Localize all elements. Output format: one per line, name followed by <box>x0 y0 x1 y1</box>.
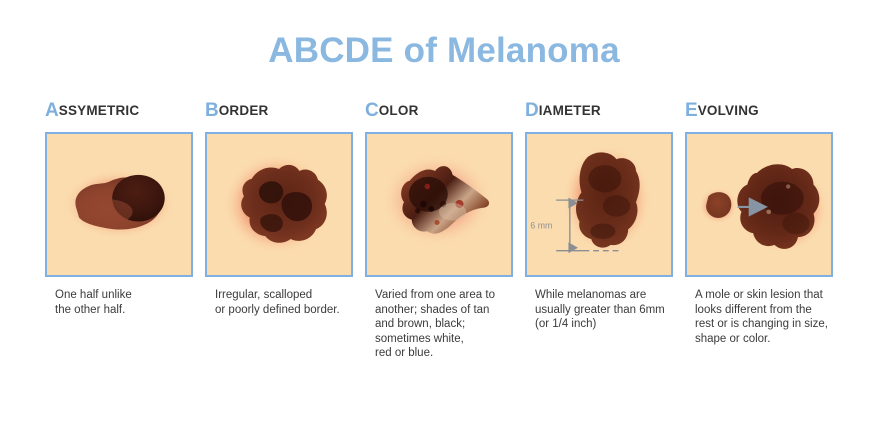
heading-rest-text: OLOR <box>379 103 419 118</box>
column-asymmetric: ASSYMETRIC <box>45 100 197 130</box>
heading-rest-text: ORDER <box>219 103 269 118</box>
caption-evolving: A mole or skin lesion that looks differe… <box>695 288 847 346</box>
panel-diameter: 6 mm <box>525 132 673 277</box>
heading-asymmetric: ASSYMETRIC <box>45 100 197 130</box>
caption-line: Varied from one area to <box>375 288 527 303</box>
heading-border: BORDER <box>205 100 357 130</box>
measurement-label: 6 mm <box>530 220 552 230</box>
caption-line: One half unlike <box>55 288 207 303</box>
evolving-mole-arrow-illustration <box>687 134 831 275</box>
panel-asymmetric <box>45 132 193 277</box>
caption-line: or poorly defined border. <box>215 303 367 318</box>
heading-rest-text: SSYMETRIC <box>59 103 140 118</box>
abcde-melanoma-infographic: ABCDE of Melanoma ASSYMETRIC <box>0 0 888 426</box>
caption-line: (or 1/4 inch) <box>535 317 687 332</box>
caption-asymmetric: One half unlike the other half. <box>55 288 207 317</box>
caption-line: While melanomas are <box>535 288 687 303</box>
panel-evolving <box>685 132 833 277</box>
caption-line: A mole or skin lesion that <box>695 288 847 303</box>
caption-line: another; shades of tan <box>375 303 527 318</box>
column-evolving: EVOLVING <box>685 100 837 130</box>
heading-initial-letter: E <box>685 100 698 121</box>
page-title: ABCDE of Melanoma <box>0 31 888 71</box>
caption-line: shape or color. <box>695 332 847 347</box>
heading-diameter: DIAMETER <box>525 100 677 130</box>
caption-line: Irregular, scalloped <box>215 288 367 303</box>
large-mole-with-scale-illustration: 6 mm <box>527 134 671 275</box>
caption-line: rest or is changing in size, <box>695 317 847 332</box>
heading-color: COLOR <box>365 100 517 130</box>
caption-line: sometimes white, <box>375 332 527 347</box>
column-diameter: DIAMETER <box>525 100 677 130</box>
columns-container: ASSYMETRIC <box>45 100 845 400</box>
caption-line: looks different from the <box>695 303 847 318</box>
panel-color <box>365 132 513 277</box>
caption-line: and brown, black; <box>375 317 527 332</box>
heading-rest-text: VOLVING <box>698 103 759 118</box>
heading-initial-letter: D <box>525 100 539 121</box>
caption-color: Varied from one area to another; shades … <box>375 288 527 361</box>
heading-initial-letter: A <box>45 100 59 121</box>
column-border: BORDER <box>205 100 357 130</box>
heading-evolving: EVOLVING <box>685 100 837 130</box>
caption-line: usually greater than 6mm <box>535 303 687 318</box>
heading-initial-letter: C <box>365 100 379 121</box>
caption-line: the other half. <box>55 303 207 318</box>
column-color: COLOR <box>365 100 517 130</box>
caption-diameter: While melanomas are usually greater than… <box>535 288 687 332</box>
asymmetric-mole-illustration <box>47 134 191 275</box>
heading-rest-text: IAMETER <box>539 103 601 118</box>
heading-initial-letter: B <box>205 100 219 121</box>
multicolor-mole-illustration <box>367 134 511 275</box>
caption-border: Irregular, scalloped or poorly defined b… <box>215 288 367 317</box>
panel-border <box>205 132 353 277</box>
irregular-border-mole-illustration <box>207 134 351 275</box>
caption-line: red or blue. <box>375 346 527 361</box>
